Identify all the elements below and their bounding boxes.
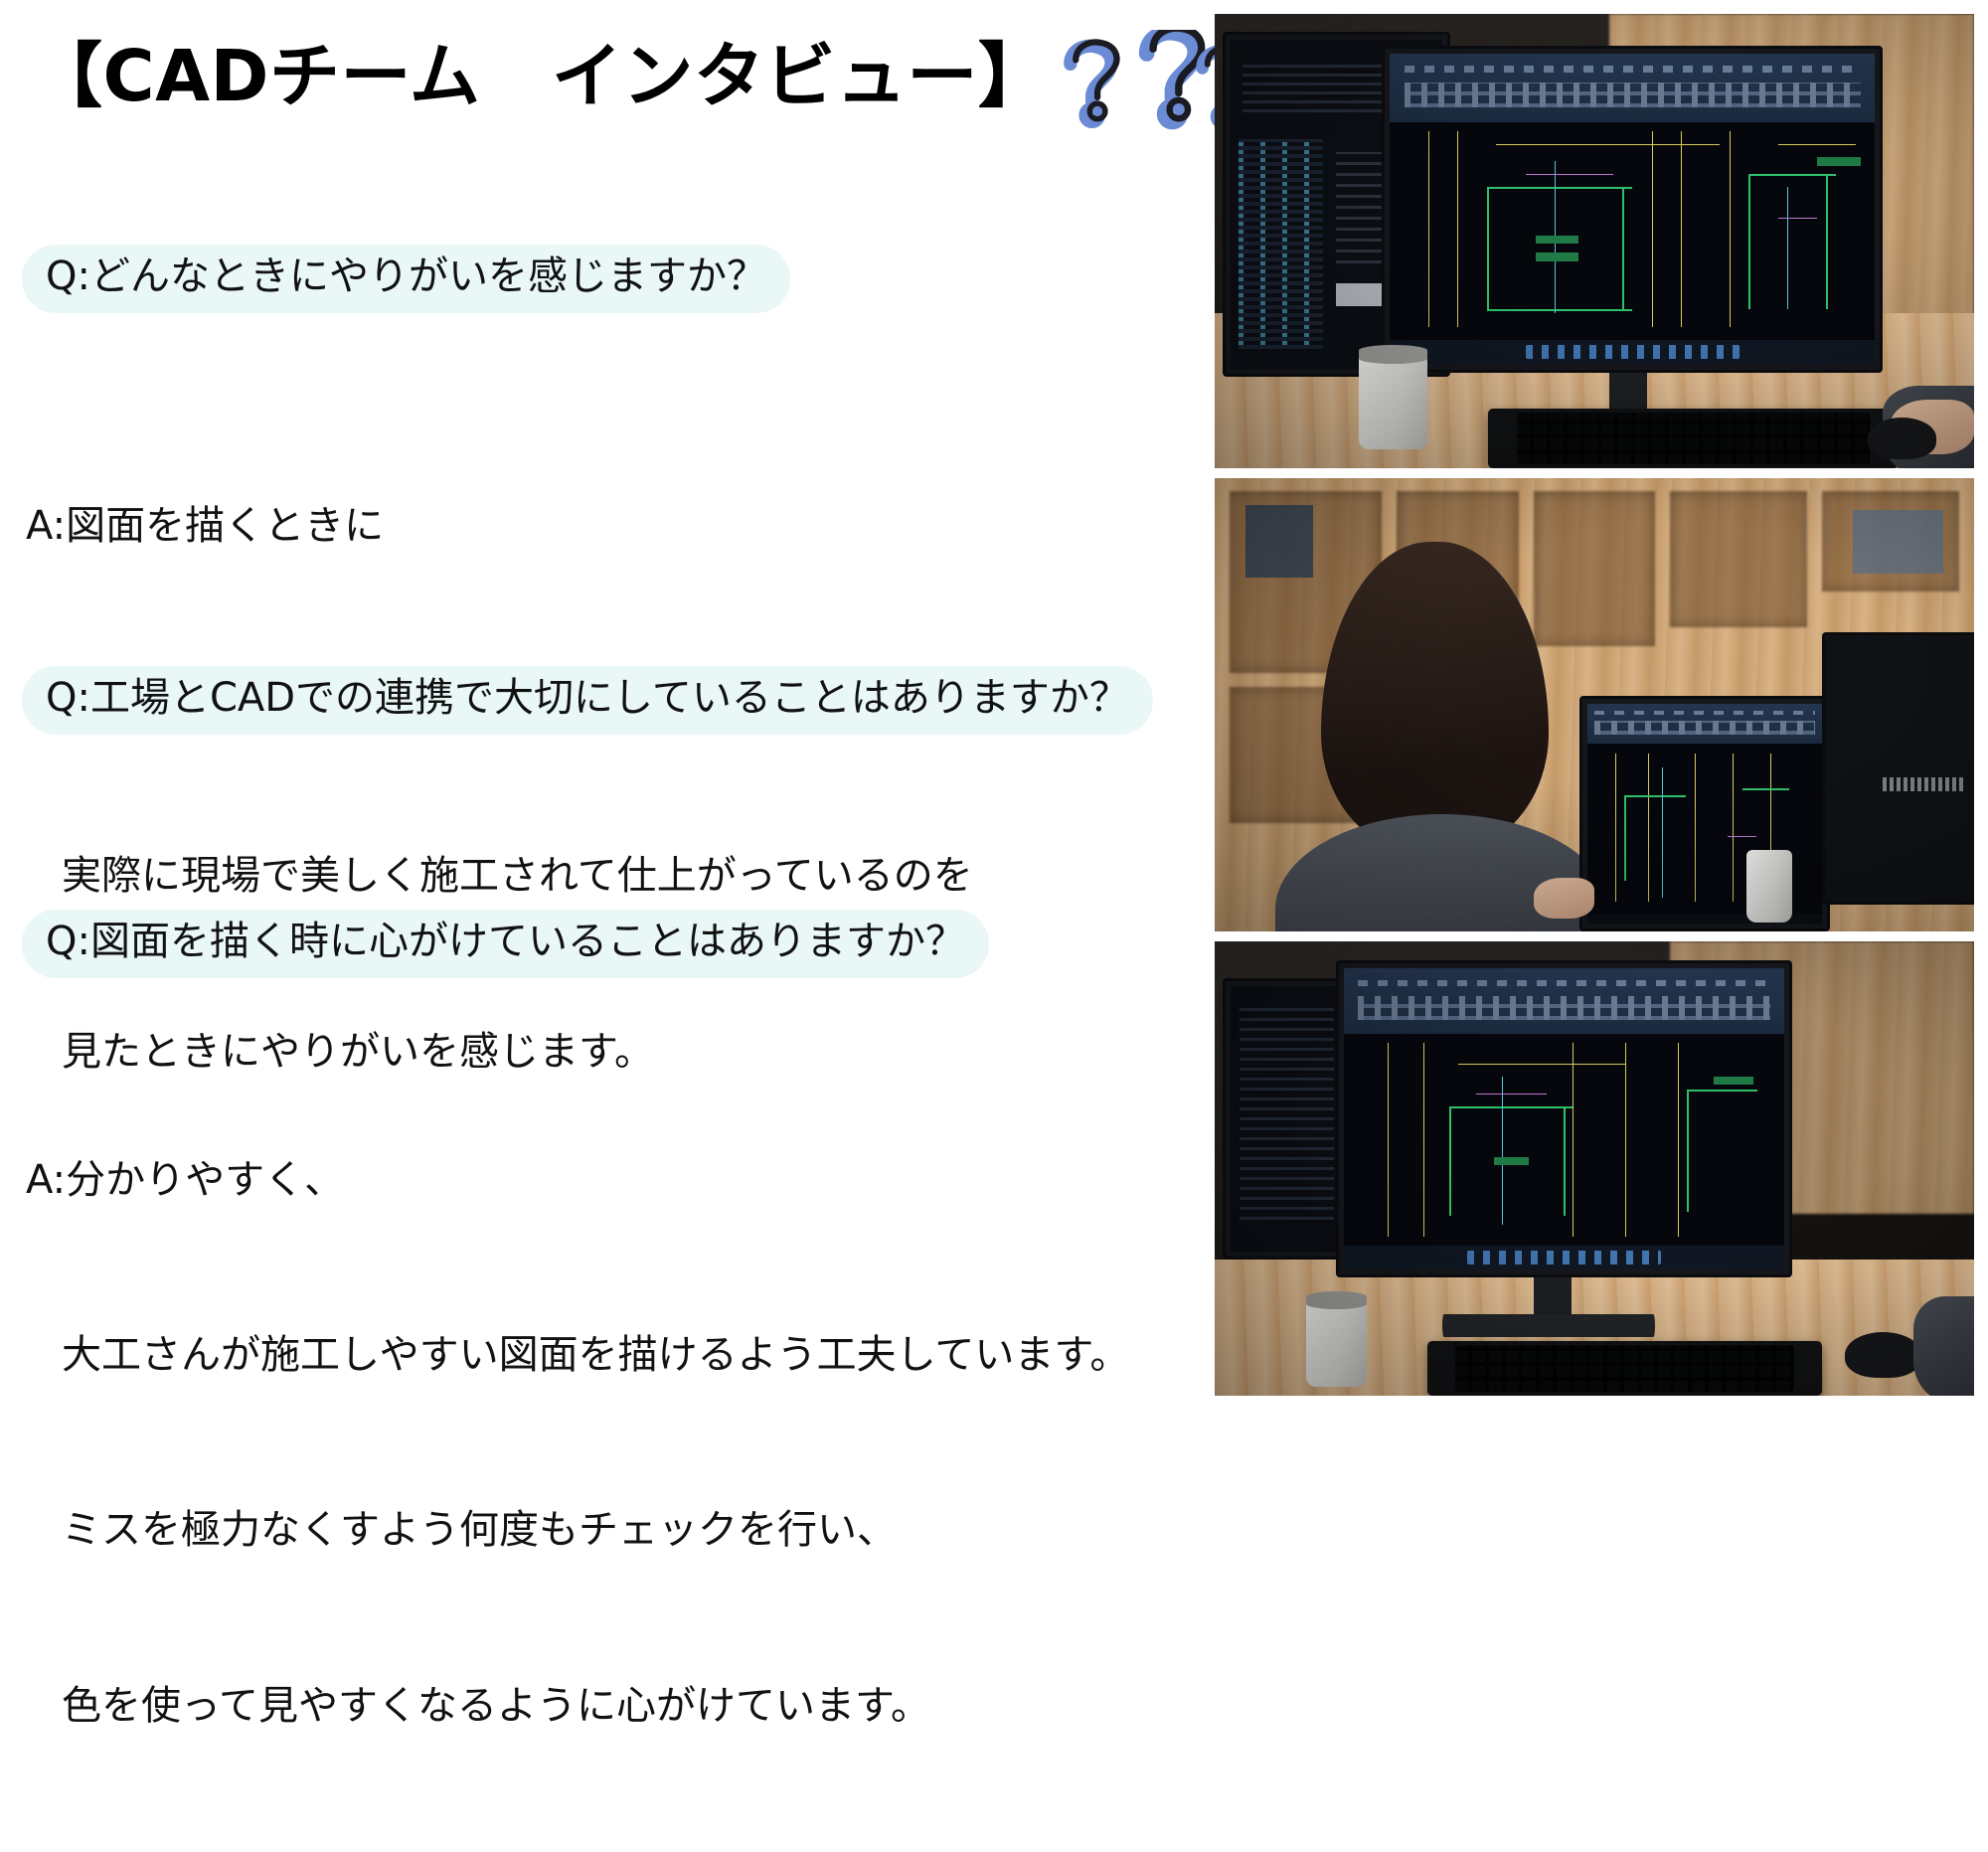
photo-column <box>1215 14 1974 1396</box>
question-bubble-1: Q:どんなときにやりがいを感じますか？ <box>22 245 790 313</box>
photo-cad-workstation-desk <box>1215 14 1974 468</box>
question-bubble-2: Q:工場とCADでの連携で大切にしていることはありますか？ <box>22 666 1153 735</box>
photo-cad-operator-back <box>1215 478 1974 932</box>
qa-block-2: Q:工場とCADでの連携で大切にしていることはありますか？ <box>22 666 1110 735</box>
page-title: 【CADチーム インタビュー】 <box>32 38 1049 115</box>
qa-block-1: Q:どんなときにやりがいを感じますか？ <box>22 245 1110 313</box>
answer-line: A:分かりやすく、 <box>26 1151 1114 1210</box>
answer-line: 色を使って見やすくなるように心がけています。 <box>26 1677 1114 1736</box>
answer-3: A:分かりやすく、 大工さんが施工しやすい図面を描けるよう工夫しています。 ミス… <box>26 1034 1114 1852</box>
photo-cad-screen-closeup <box>1215 941 1974 1396</box>
answer-line: 大工さんが施工しやすい図面を描けるよう工夫しています。 <box>26 1326 1114 1385</box>
content-column: 【CADチーム インタビュー】 <box>0 0 1088 1406</box>
question-bubble-3: Q:図面を描く時に心がけていることはありますか？ <box>22 910 989 978</box>
title-row: 【CADチーム インタビュー】 <box>32 38 1281 154</box>
slide-root: 【CADチーム インタビュー】 <box>0 0 1988 1406</box>
answer-line: A:図面を描くときに <box>26 497 1114 556</box>
qa-block-3: Q:図面を描く時に心がけていることはありますか？ <box>22 910 1110 978</box>
answer-line: ミスを極力なくすよう何度もチェックを行い、 <box>26 1501 1114 1560</box>
